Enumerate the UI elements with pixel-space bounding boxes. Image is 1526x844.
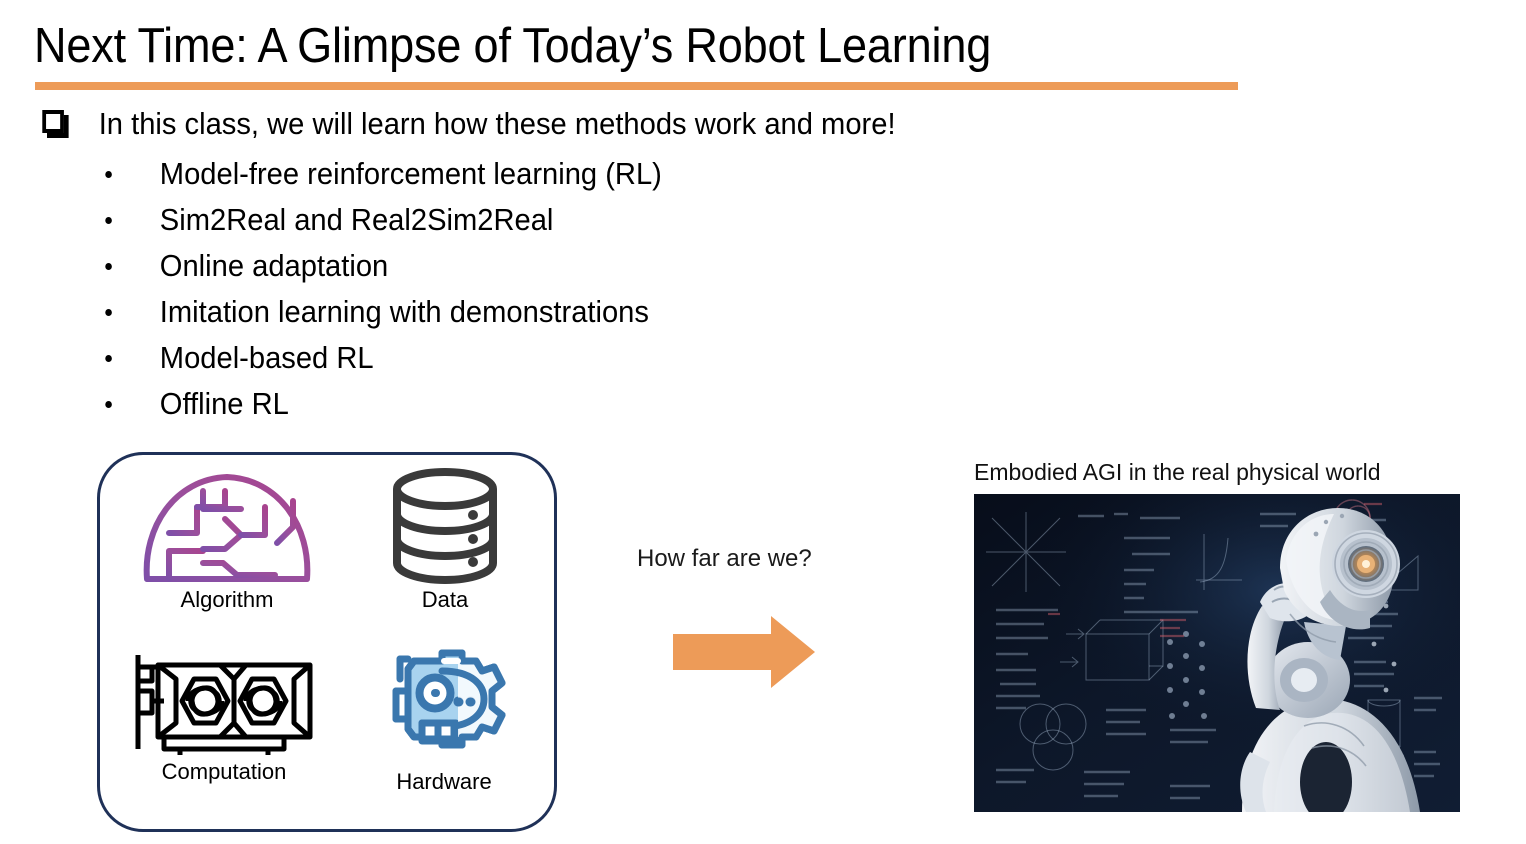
pillar-label: Computation (114, 759, 334, 785)
dot-bullet-icon (105, 401, 112, 408)
pillars-box: Algorithm Dat (97, 452, 557, 832)
robot-photo (974, 494, 1460, 812)
list-item-label: Sim2Real and Real2Sim2Real (160, 202, 554, 237)
list-item-label: Offline RL (160, 386, 289, 421)
how-far-question: How far are we? (637, 545, 812, 573)
list-item-label: Model-based RL (160, 340, 374, 375)
pillar-label: Data (350, 587, 540, 613)
dot-bullet-icon (105, 263, 112, 270)
pillar-computation: Computation (114, 645, 334, 785)
list-item-label: Online adaptation (160, 248, 388, 283)
list-item: Online adaptation (0, 244, 940, 287)
slide-canvas: Next Time: A Glimpse of Today’s Robot Le… (0, 0, 1526, 844)
pillar-data: Data (350, 467, 540, 613)
list-item: Model-based RL (0, 336, 940, 379)
page-title: Next Time: A Glimpse of Today’s Robot Le… (34, 16, 991, 76)
square-bullet-icon (42, 110, 64, 133)
dot-bullet-icon (105, 217, 112, 224)
dot-bullet-icon (105, 355, 112, 362)
list-item: Model-free reinforcement learning (RL) (0, 152, 940, 195)
photo-caption: Embodied AGI in the real physical world (974, 459, 1381, 486)
brain-maze-icon (122, 467, 332, 585)
list-item: Imitation learning with demonstrations (0, 290, 940, 333)
pillar-label: Algorithm (122, 587, 332, 613)
robot-gear-icon (348, 645, 540, 767)
list-item: Offline RL (0, 382, 940, 425)
title-underline (35, 82, 1238, 90)
bullet-list: In this class, we will learn how these m… (0, 104, 1000, 428)
pillar-algorithm: Algorithm (122, 467, 332, 613)
dot-bullet-icon (105, 309, 112, 316)
dot-bullet-icon (105, 171, 112, 178)
gpu-card-icon (114, 645, 334, 757)
pillar-label: Hardware (348, 769, 540, 795)
list-item-label: Model-free reinforcement learning (RL) (160, 156, 662, 191)
right-arrow-icon (673, 616, 815, 688)
list-item-label: Imitation learning with demonstrations (160, 294, 649, 329)
list-item: Sim2Real and Real2Sim2Real (0, 198, 940, 241)
bullet-lead: In this class, we will learn how these m… (0, 104, 940, 144)
pillar-hardware: Hardware (348, 645, 540, 795)
bullet-lead-text: In this class, we will learn how these m… (99, 106, 896, 141)
database-icon (350, 467, 540, 585)
